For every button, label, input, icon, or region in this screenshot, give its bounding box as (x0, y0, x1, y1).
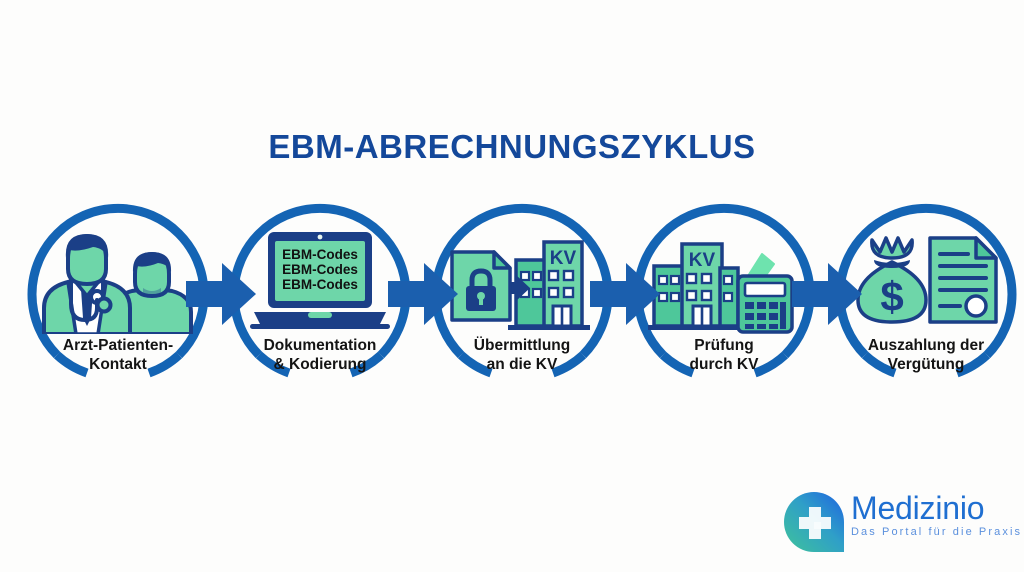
page-title: EBM-ABRECHNUNGSZYKLUS (0, 128, 1024, 166)
step-4-label-line1: Prüfung (610, 336, 838, 355)
medical-cross-leaf-icon (783, 491, 845, 553)
money-bag-invoice-icon: $ (848, 226, 1004, 334)
laptop-screen-line-3: EBM-Codes (282, 277, 358, 292)
logo-text: Medizinio Das Portal für die Praxis (851, 491, 1021, 539)
arrow-step2-to-step3 (386, 259, 460, 329)
step-2-label-line1: Dokumentation (206, 336, 434, 355)
laptop-screen-line-1: EBM-Codes (282, 247, 358, 262)
laptop-ebm-codes-icon: EBM-Codes EBM-Codes EBM-Codes (242, 226, 398, 334)
kv-building-label: KV (689, 250, 716, 271)
ebm-billing-cycle-infographic: EBM-ABRECHNUNGSZYKLUS (0, 0, 1024, 572)
brand-logo: Medizinio Das Portal für die Praxis (783, 489, 1015, 557)
step-4-label-line2: durch KV (610, 355, 838, 374)
doctor-patient-icon (40, 226, 196, 334)
step-5-label: Auszahlung der Vergütung (812, 336, 1024, 374)
step-1-label: Arzt-Patienten- Kontakt (4, 336, 232, 374)
step-5-label-line2: Vergütung (812, 355, 1024, 374)
step-4-label: Prüfung durch KV (610, 336, 838, 374)
step-3-label: Übermittlung an die KV (408, 336, 636, 374)
logo-tagline: Das Portal für die Praxis (851, 525, 1021, 539)
step-1-label-line2: Kontakt (4, 355, 232, 374)
step-5-label-line1: Auszahlung der (812, 336, 1024, 355)
arrow-step4-to-step5 (790, 259, 864, 329)
arrow-step3-to-step4 (588, 259, 662, 329)
arrow-step1-to-step2 (184, 259, 258, 329)
step-3-label-line2: an die KV (408, 355, 636, 374)
encrypted-document-to-kv-building-icon: KV (444, 226, 600, 334)
logo-wordmark: Medizinio (851, 491, 1021, 525)
step-1-label-line1: Arzt-Patienten- (4, 336, 232, 355)
kv-building-label: KV (550, 248, 577, 269)
step-2-label: Dokumentation & Kodierung (206, 336, 434, 374)
calculator-shape (738, 276, 792, 332)
dollar-sign-icon: $ (880, 273, 903, 320)
laptop-screen-line-2: EBM-Codes (282, 262, 358, 277)
step-3-label-line1: Übermittlung (408, 336, 636, 355)
step-2-label-line2: & Kodierung (206, 355, 434, 374)
kv-building-shape: KV (648, 244, 742, 330)
kv-building-checkmark-calculator-icon: KV (646, 226, 802, 334)
process-flow: Arzt-Patienten- Kontakt EBM-Codes EBM-Co… (0, 196, 1024, 396)
